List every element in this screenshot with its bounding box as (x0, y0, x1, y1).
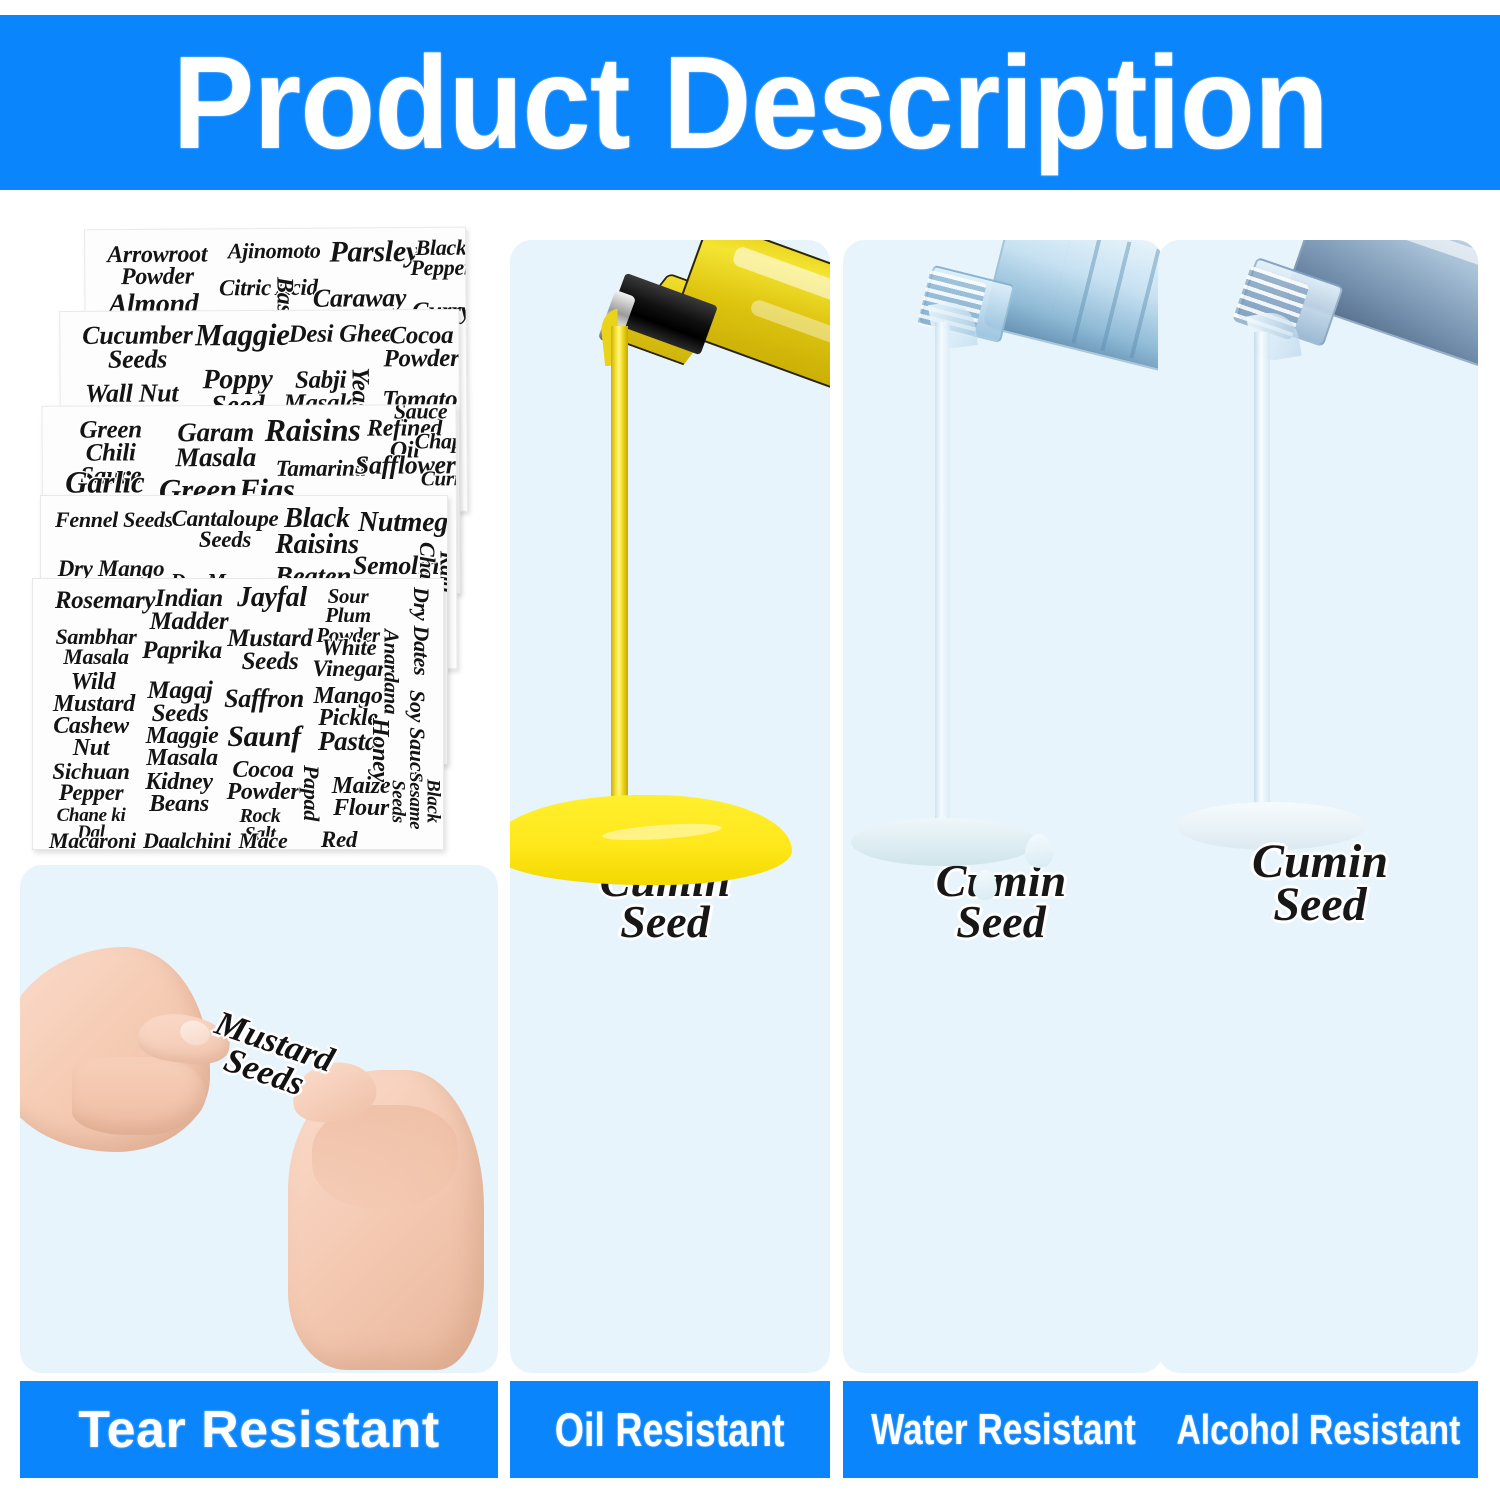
sticker-label: Wall Nut (77, 381, 187, 405)
sticker-label: Maggie (186, 321, 298, 350)
sticker-label: Saffron (223, 687, 305, 711)
sticker-label: Desi Ghee (288, 322, 392, 346)
sticker-label: Maggie Masala (141, 725, 223, 769)
sticker-label: Honey (369, 713, 391, 787)
sticker-label: Wild Mustard (53, 671, 133, 715)
sticker-label: Red Lentils (291, 829, 387, 850)
panel-water-resistant: Cumin Seed (843, 240, 1163, 1373)
caption-label: Tear Resistant (78, 1400, 440, 1460)
sticker-label: Jayfal (233, 585, 311, 611)
sticker-label: Mace (235, 831, 291, 850)
sticker-cumin-seed: Cumin Seed (865, 860, 1137, 943)
sticker-label: Arrowroot Powder (97, 243, 217, 288)
sticker-label: Sichuan Pepper (51, 761, 131, 803)
sticker-label: Paprika (141, 639, 223, 662)
sticker-label: Macaroni (49, 831, 135, 850)
alcohol-stream (1254, 332, 1270, 832)
sticker-label: Anardana (381, 625, 400, 719)
sticker-label: Black Raisins (269, 506, 365, 558)
sticker-label: Garam Masala (163, 420, 269, 470)
sticker-label: Dry Dates (411, 585, 431, 677)
caption-alcohol-resistant: Alcohol Resistant (1158, 1381, 1478, 1478)
water-stream (935, 322, 950, 842)
panel-tear-resistant: Mustard Seeds (20, 865, 498, 1373)
sticker-label: Kidney Beans (141, 771, 217, 815)
hand-left-fingers (72, 1057, 206, 1135)
sticker-mustard-seeds: Mustard Seeds (201, 1007, 338, 1108)
sticker-label: Garlic (57, 468, 153, 497)
sticker-label: White Vinegar (311, 637, 387, 679)
sticker-label: Cucumber Seeds (76, 323, 198, 371)
sticker-cumin-seed: Cumin Seed (1186, 840, 1454, 926)
sticker-label: Mustard Seeds (225, 627, 315, 673)
water-droplet (1025, 834, 1053, 868)
sticker-label: Sambhar Masala (49, 627, 143, 667)
header-banner: Product Description (0, 15, 1500, 190)
caption-label: Alcohol Resistant (1176, 1406, 1460, 1454)
oil-puddle (510, 795, 792, 885)
caption-tear-resistant: Tear Resistant (20, 1381, 498, 1478)
water-droplet (973, 870, 997, 900)
panel-oil-resistant: Cumin Seed (510, 240, 830, 1373)
sticker-label: Curry (421, 469, 458, 488)
sticker-label: Magaj Seeds (143, 679, 217, 725)
panel-alcohol-resistant: Cumin Seed (1158, 240, 1478, 1373)
sticker-label: Daalchini (143, 831, 229, 850)
caption-water-resistant: Water Resistant (843, 1381, 1163, 1478)
oil-stream (611, 326, 628, 826)
sticker-label: Cocoa Powder (380, 324, 460, 370)
water-puddle (851, 818, 1037, 866)
sticker-sheet-5: Rosemary Indian Madder Jayfal Sour Plum … (32, 578, 444, 850)
sticker-label: Papad (301, 765, 321, 821)
sticker-label: Black Sesame Seeds (389, 755, 441, 847)
sticker-label: Cocoa Powder (221, 759, 305, 803)
sticker-label: Saunf (225, 723, 303, 751)
sticker-label: Sauce (389, 404, 453, 421)
caption-oil-resistant: Oil Resistant (510, 1381, 830, 1478)
caption-label: Water Resistant (871, 1405, 1136, 1455)
sticker-label: Black Pepper (407, 238, 468, 279)
sticker-label: Ajinomoto (219, 241, 329, 262)
sticker-label: Chapatti (415, 431, 458, 451)
sticker-label: Cantaloupe Seeds (169, 508, 281, 550)
caption-label: Oil Resistant (555, 1402, 785, 1457)
sticker-label: Cashew Nut (53, 715, 129, 759)
product-description-page: Product Description Arrowroot Powder Aji… (0, 0, 1500, 1500)
sticker-label: Indian Madder (145, 587, 233, 633)
sticker-label: Fennel Seeds (55, 510, 173, 530)
page-title: Product Description (172, 37, 1328, 169)
sticker-label: Raisins (261, 416, 365, 446)
